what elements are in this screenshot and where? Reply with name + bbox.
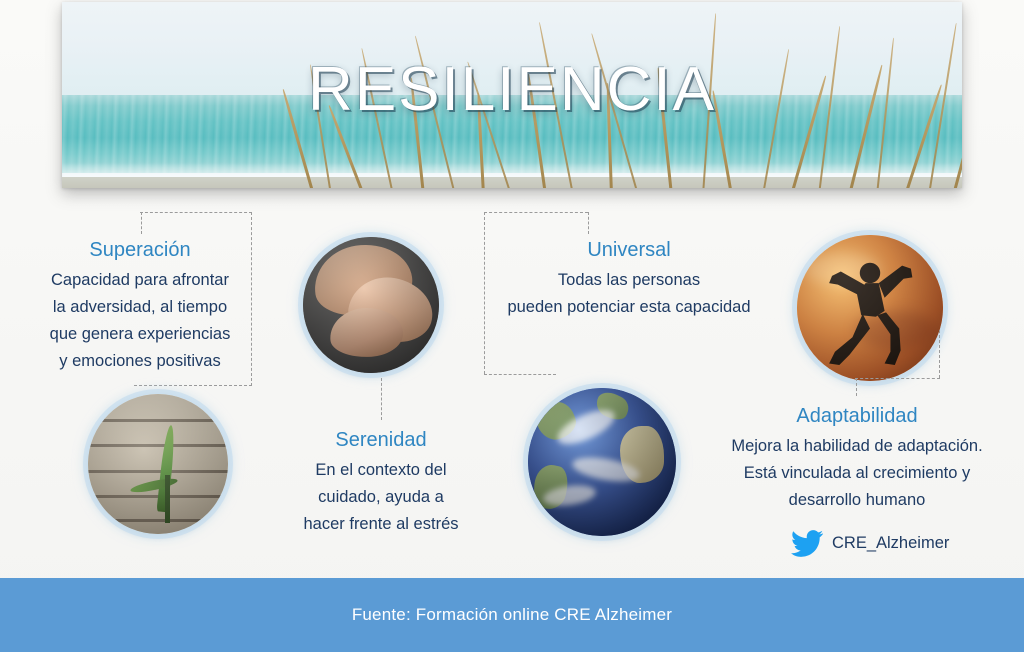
page-title: RESILIENCIA [62, 54, 962, 125]
concept-superacion-line: la adversidad, al tiempo [30, 294, 250, 321]
universal-dash-top [484, 212, 588, 213]
image-jump-inner [797, 235, 943, 381]
image-vignette [528, 388, 676, 536]
concept-universal-line: pueden potenciar esta capacidad [484, 294, 774, 321]
image-vignette [88, 394, 228, 534]
header-banner-image: RESILIENCIA [62, 2, 962, 188]
footer-bar: Fuente: Formación online CRE Alzheimer [0, 578, 1024, 652]
concept-serenidad: Serenidad En el contexto del cuidado, ay… [278, 426, 484, 538]
adaptabilidad-dash-bottom [855, 378, 940, 379]
concept-universal-body: Todas las personas pueden potenciar esta… [484, 267, 774, 321]
concept-superacion-line: que genera experiencias [30, 321, 250, 348]
concept-serenidad-line: cuidado, ayuda a [278, 484, 484, 511]
image-sprout-inner [88, 394, 228, 534]
image-sprout-growing [88, 394, 228, 534]
universal-dash-right-stub [588, 212, 589, 234]
concept-superacion-line: Capacidad para afrontar [30, 267, 250, 294]
concept-adaptabilidad-line: Está vinculada al crecimiento y [712, 460, 1002, 487]
concept-superacion-body: Capacidad para afrontar la adversidad, a… [30, 267, 250, 375]
concept-universal-line: Todas las personas [484, 267, 774, 294]
concept-adaptabilidad-line: desarrollo humano [712, 487, 1002, 514]
image-vignette [303, 237, 439, 373]
concept-adaptabilidad: Adaptabilidad Mejora la habilidad de ada… [712, 402, 1002, 514]
image-planet-earth [528, 388, 676, 536]
adaptabilidad-dash-stub [856, 378, 857, 396]
concept-universal: Universal Todas las personas pueden pote… [484, 236, 774, 321]
concept-serenidad-title: Serenidad [278, 426, 484, 455]
serenidad-dash-connector [381, 378, 382, 420]
superacion-dash-bottom [134, 385, 252, 386]
concept-universal-title: Universal [484, 236, 774, 265]
image-hands-inner [303, 237, 439, 373]
concept-adaptabilidad-line: Mejora la habilidad de adaptación. [712, 433, 1002, 460]
universal-dash-bottom [484, 374, 556, 375]
superacion-dash-right [251, 212, 252, 386]
concept-superacion-title: Superación [30, 236, 250, 265]
image-elderly-hands [303, 237, 439, 373]
twitter-bird-icon[interactable] [791, 530, 823, 557]
concept-adaptabilidad-body: Mejora la habilidad de adaptación. Está … [712, 433, 1002, 514]
concept-serenidad-line: En el contexto del [278, 457, 484, 484]
footer-source-text: Fuente: Formación online CRE Alzheimer [352, 605, 672, 625]
image-vignette [797, 235, 943, 381]
concept-superacion: Superación Capacidad para afrontar la ad… [30, 236, 250, 375]
concept-serenidad-body: En el contexto del cuidado, ayuda a hace… [278, 457, 484, 538]
image-earth-inner [528, 388, 676, 536]
twitter-handle[interactable]: CRE_Alzheimer [832, 534, 949, 553]
infographic-canvas: RESILIENCIA Superación Capacidad para af… [0, 0, 1024, 652]
superacion-dash-top [140, 212, 252, 213]
concept-superacion-line: y emociones positivas [30, 348, 250, 375]
image-jumping-person-sunset [797, 235, 943, 381]
superacion-dash-left-stub [141, 212, 142, 234]
adaptabilidad-dash-vertical-right [939, 330, 940, 378]
concept-serenidad-line: hacer frente al estrés [278, 511, 484, 538]
banner-sand [62, 177, 962, 188]
twitter-credit[interactable]: CRE_Alzheimer [791, 530, 949, 557]
concept-adaptabilidad-title: Adaptabilidad [712, 402, 1002, 431]
